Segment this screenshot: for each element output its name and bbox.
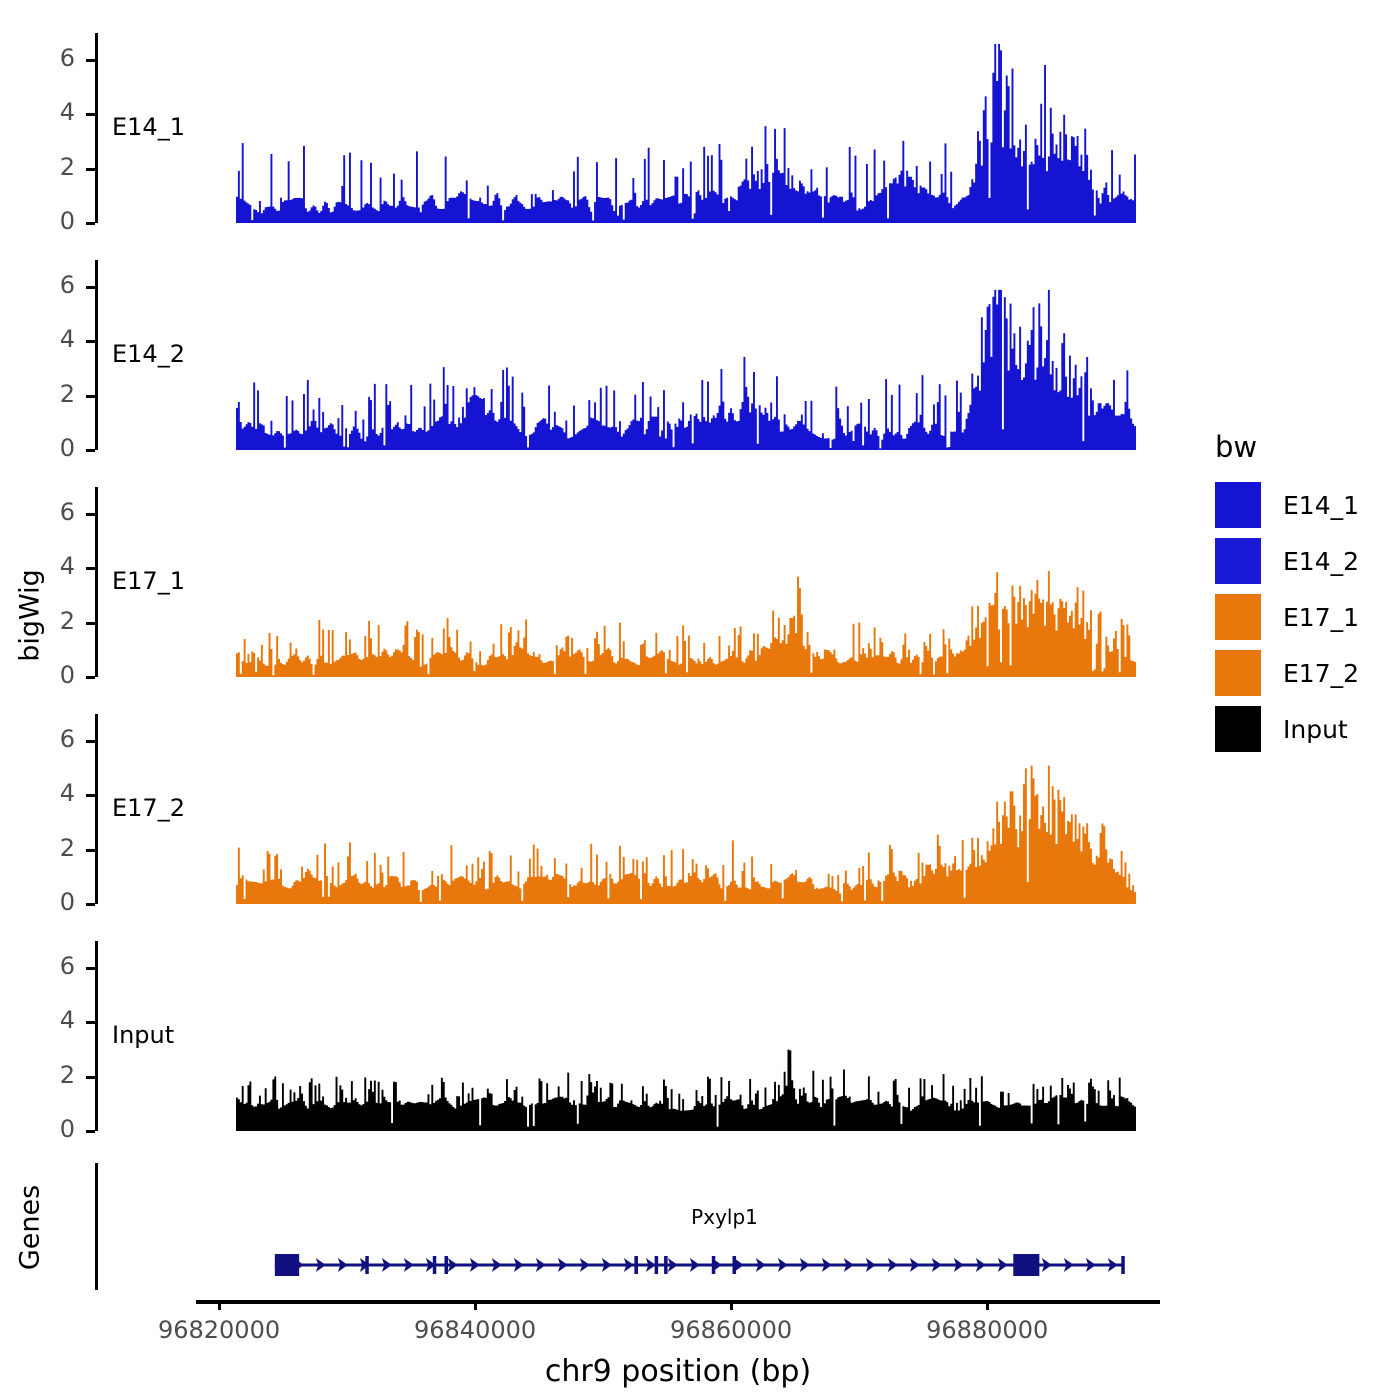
- y-tick-label: 6: [20, 271, 75, 299]
- legend-item-input[interactable]: Input: [1215, 706, 1348, 752]
- legend-swatch-e17_1: [1215, 594, 1261, 640]
- panel-label-e17_2: E17_2: [112, 794, 185, 822]
- y-tick: [86, 168, 95, 171]
- x-tick-label: 96820000: [119, 1316, 319, 1344]
- y-tick-label: 0: [20, 1115, 75, 1143]
- y-tick: [86, 740, 95, 743]
- y-tick: [86, 1021, 95, 1024]
- y-axis-line: [95, 941, 98, 1131]
- y-tick: [86, 513, 95, 516]
- track-e17_2: [236, 714, 1136, 904]
- panel-label-input: Input: [112, 1021, 174, 1049]
- y-tick-label: 6: [20, 44, 75, 72]
- y-tick: [86, 567, 95, 570]
- y-tick-label: 2: [20, 1061, 75, 1089]
- gene-exon: [365, 1256, 369, 1274]
- y-tick-label: 4: [20, 325, 75, 353]
- legend-label-e17_2: E17_2: [1283, 659, 1359, 688]
- x-axis-title: chr9 position (bp): [378, 1354, 978, 1389]
- gene-exon: [444, 1256, 448, 1274]
- legend-swatch-input: [1215, 706, 1261, 752]
- x-axis-line: [196, 1300, 1160, 1304]
- y-tick-label: 2: [20, 834, 75, 862]
- signal-area-e17_2: [236, 714, 1136, 904]
- signal-area-e14_1: [236, 33, 1136, 223]
- x-tick-label: 96880000: [887, 1316, 1087, 1344]
- y-tick: [86, 222, 95, 225]
- y-tick: [86, 849, 95, 852]
- y-axis-line: [95, 487, 98, 677]
- track-panel-e14_1: 0246E14_1: [0, 0, 1400, 1400]
- legend-swatch-e17_2: [1215, 650, 1261, 696]
- y-tick: [86, 967, 95, 970]
- legend-label-e14_1: E14_1: [1283, 491, 1359, 520]
- track-e14_1: [236, 33, 1136, 223]
- y-tick-label: 0: [20, 434, 75, 462]
- track-panel-e17_1: 0246E17_1: [0, 0, 1400, 1400]
- track-e14_2: [236, 260, 1136, 450]
- y-axis-line: [95, 714, 98, 904]
- x-tick: [730, 1300, 733, 1310]
- y-tick-label: 0: [20, 207, 75, 235]
- y-tick: [86, 676, 95, 679]
- legend-swatch-e14_1: [1215, 482, 1261, 528]
- y-tick-label: 2: [20, 380, 75, 408]
- x-tick: [218, 1300, 221, 1310]
- signal-area-e14_2: [236, 260, 1136, 450]
- legend-item-e14_2[interactable]: E14_2: [1215, 538, 1359, 584]
- y-tick: [86, 1130, 95, 1133]
- y-axis-title-bigwig: bigWig: [15, 556, 46, 676]
- y-tick-label: 6: [20, 498, 75, 526]
- panel-label-e14_2: E14_2: [112, 340, 185, 368]
- x-tick-label: 96860000: [631, 1316, 831, 1344]
- y-tick: [86, 622, 95, 625]
- y-tick: [86, 286, 95, 289]
- y-tick-label: 2: [20, 153, 75, 181]
- gene-exon: [1121, 1256, 1125, 1274]
- track-panel-e14_2: 0246E14_2: [0, 0, 1400, 1400]
- track-e17_1: [236, 487, 1136, 677]
- legend-item-e14_1[interactable]: E14_1: [1215, 482, 1359, 528]
- x-tick: [986, 1300, 989, 1310]
- figure-root: bigWig Genes 0246E14_10246E14_20246E17_1…: [0, 0, 1400, 1400]
- y-tick: [86, 340, 95, 343]
- x-tick-label: 96840000: [375, 1316, 575, 1344]
- legend-item-e17_1[interactable]: E17_1: [1215, 594, 1359, 640]
- panel-label-e17_1: E17_1: [112, 567, 185, 595]
- gene-model-pxylp1: [0, 1245, 1400, 1285]
- gene-exon: [634, 1256, 638, 1274]
- gene-exon: [712, 1256, 716, 1274]
- y-tick: [86, 59, 95, 62]
- legend-title: bw: [1215, 430, 1257, 464]
- x-tick: [474, 1300, 477, 1310]
- y-tick: [86, 794, 95, 797]
- track-panel-input: 0246Input: [0, 0, 1400, 1400]
- y-tick: [86, 1076, 95, 1079]
- y-tick-label: 4: [20, 98, 75, 126]
- y-tick-label: 6: [20, 952, 75, 980]
- y-axis-line: [95, 260, 98, 450]
- gene-exon: [275, 1254, 299, 1276]
- signal-area-input: [236, 941, 1136, 1131]
- track-panel-e17_2: 0246E17_2: [0, 0, 1400, 1400]
- y-tick: [86, 903, 95, 906]
- gene-exon: [664, 1256, 668, 1274]
- y-tick: [86, 449, 95, 452]
- legend-item-e17_2[interactable]: E17_2: [1215, 650, 1359, 696]
- y-tick-label: 4: [20, 1006, 75, 1034]
- legend-label-e17_1: E17_1: [1283, 603, 1359, 632]
- y-tick-label: 4: [20, 779, 75, 807]
- y-tick-label: 0: [20, 888, 75, 916]
- gene-exon: [433, 1256, 437, 1274]
- legend-label-input: Input: [1283, 715, 1348, 744]
- legend-swatch-e14_2: [1215, 538, 1261, 584]
- gene-label: Pxylp1: [691, 1205, 758, 1229]
- legend-label-e14_2: E14_2: [1283, 547, 1359, 576]
- panel-label-e14_1: E14_1: [112, 113, 185, 141]
- y-tick: [86, 113, 95, 116]
- y-tick: [86, 395, 95, 398]
- gene-exon: [1013, 1254, 1039, 1276]
- gene-exon: [655, 1256, 659, 1274]
- y-tick-label: 6: [20, 725, 75, 753]
- signal-area-e17_1: [236, 487, 1136, 677]
- gene-exon: [732, 1256, 736, 1274]
- track-input: [236, 941, 1136, 1131]
- y-axis-line: [95, 33, 98, 223]
